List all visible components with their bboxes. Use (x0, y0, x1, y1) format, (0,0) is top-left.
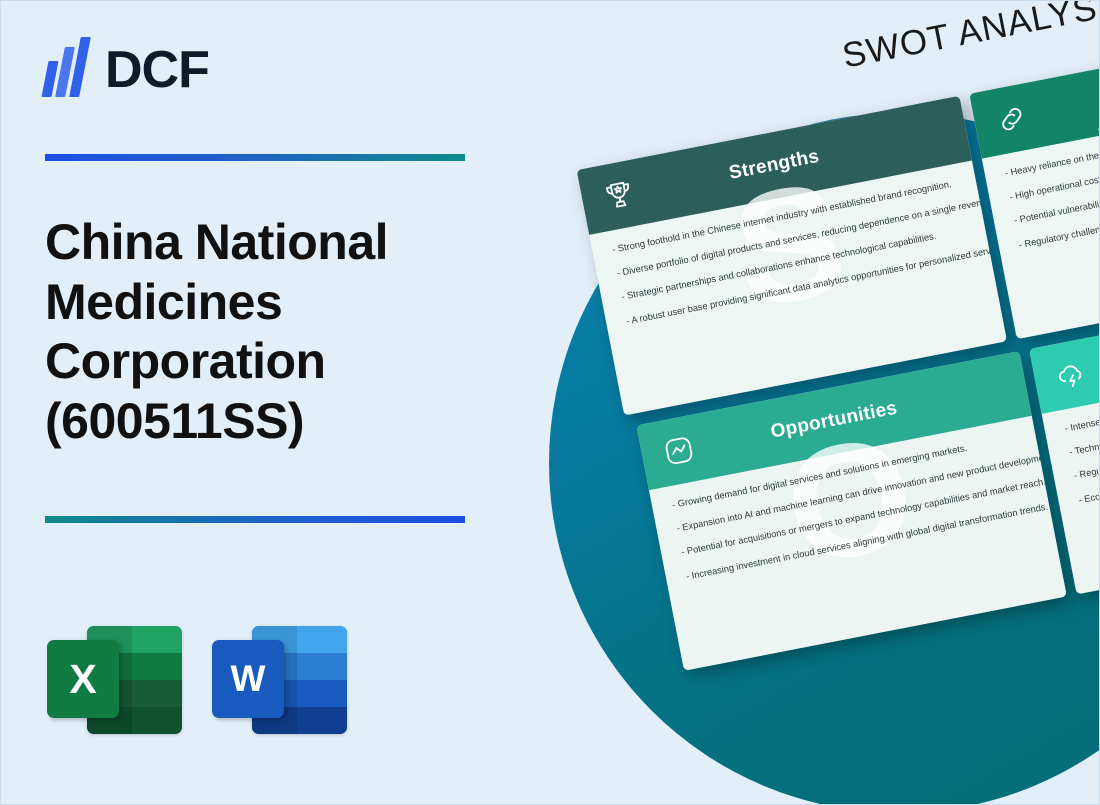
brand-name: DCF (105, 44, 209, 96)
chain-link-icon (992, 99, 1032, 139)
divider-top (45, 154, 465, 161)
dcf-bars-logo-icon (45, 39, 91, 101)
page-title-line-3: Corporation (45, 332, 485, 392)
brand-logo[interactable]: DCF (45, 39, 209, 101)
trophy-icon (599, 176, 639, 216)
swot-slide: SWOT ANALYSIS Strengths (0, 0, 1100, 805)
excel-file-icon[interactable]: X (47, 618, 182, 742)
download-icons: X W (47, 618, 347, 742)
page-title-line-1: China National (45, 213, 485, 273)
divider-bottom (45, 516, 465, 523)
excel-letter: X (47, 640, 119, 718)
page-title-line-2: Medicines (45, 273, 485, 333)
card-title-weaknesses: Weaknesses (973, 41, 1100, 137)
pulse-chart-icon (659, 431, 699, 471)
word-file-icon[interactable]: W (212, 618, 347, 742)
page-title-line-4: (600511SS) (45, 392, 485, 452)
storm-cloud-icon (1052, 354, 1092, 394)
word-letter: W (212, 640, 284, 718)
page-title: China National Medicines Corporation (60… (45, 213, 485, 451)
title-panel: DCF China National Medicines Corporation… (1, 1, 571, 805)
